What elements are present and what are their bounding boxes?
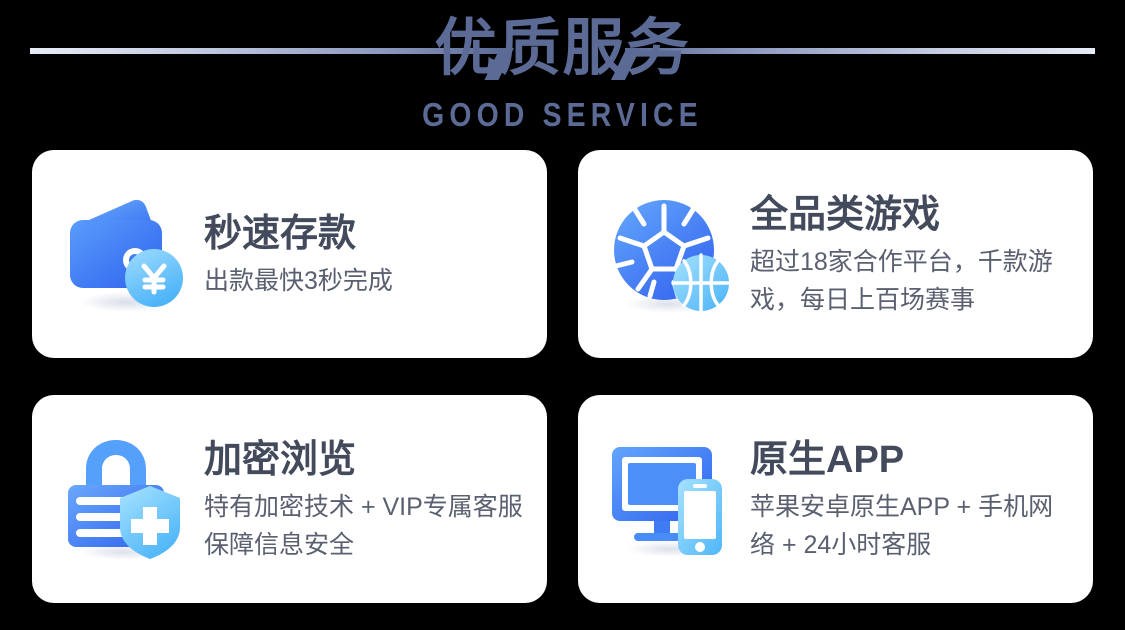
feature-card-desc: 出款最快3秒完成 xyxy=(204,262,529,300)
page-title: 优质服务 xyxy=(0,8,1125,90)
feature-card-desc: 苹果安卓原生APP + 手机网络 + 24小时客服 xyxy=(750,488,1075,564)
feature-card-encryption[interactable]: 加密浏览 特有加密技术 + VIP专属客服保障信息安全 xyxy=(32,395,547,603)
feature-card-grid: 秒速存款 出款最快3秒完成 xyxy=(32,150,1093,603)
feature-card-title: 加密浏览 xyxy=(204,435,529,485)
feature-card-text: 原生APP 苹果安卓原生APP + 手机网络 + 24小时客服 xyxy=(750,435,1075,564)
page-subtitle: GOOD SERVICE xyxy=(79,96,1047,134)
page-header: 优质服务 GOOD SERVICE xyxy=(0,0,1125,150)
wallet-yen-icon xyxy=(60,188,192,320)
feature-card-native-app[interactable]: 原生APP 苹果安卓原生APP + 手机网络 + 24小时客服 xyxy=(578,395,1093,603)
feature-card-games[interactable]: 全品类游戏 超过18家合作平台，千款游戏，每日上百场赛事 xyxy=(578,150,1093,358)
feature-card-desc: 特有加密技术 + VIP专属客服保障信息安全 xyxy=(204,488,529,564)
feature-card-title: 原生APP xyxy=(750,435,1075,485)
feature-card-title: 秒速存款 xyxy=(204,209,529,259)
feature-card-text: 全品类游戏 超过18家合作平台，千款游戏，每日上百场赛事 xyxy=(750,190,1075,319)
feature-card-title: 全品类游戏 xyxy=(750,190,1075,240)
soccer-basketball-icon xyxy=(606,188,738,320)
monitor-phone-icon xyxy=(606,433,738,565)
feature-card-desc: 超过18家合作平台，千款游戏，每日上百场赛事 xyxy=(750,243,1075,319)
feature-card-deposit[interactable]: 秒速存款 出款最快3秒完成 xyxy=(32,150,547,358)
feature-card-text: 秒速存款 出款最快3秒完成 xyxy=(204,209,529,300)
lock-shield-icon xyxy=(60,433,192,565)
feature-card-text: 加密浏览 特有加密技术 + VIP专属客服保障信息安全 xyxy=(204,435,529,564)
